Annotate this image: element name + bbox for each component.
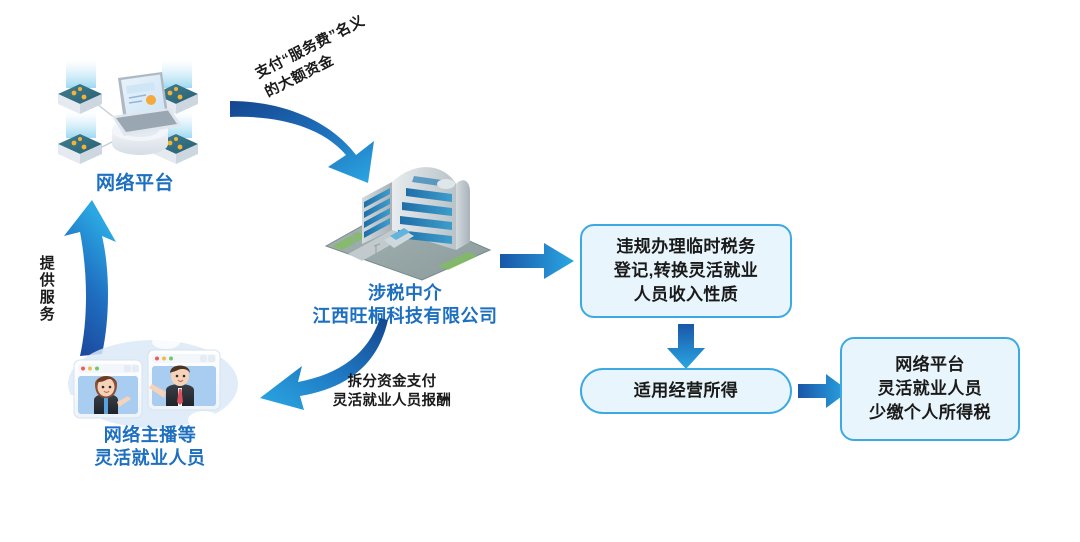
label-network-platform: 网络平台: [55, 172, 215, 196]
label-workers: 网络主播等 灵活就业人员: [55, 424, 245, 470]
tax-agency-illustration: [318, 158, 498, 283]
label-split-funds: 拆分资金支付 灵活就业人员报酬: [302, 373, 482, 411]
box-underpay-personal-income-tax[interactable]: 网络平台 灵活就业人员 少缴个人所得税: [840, 337, 1020, 441]
server-node-top-left: [58, 60, 102, 114]
box-illegal-temp-tax-registration[interactable]: 违规办理临时税务 登记,转换灵活就业 人员收入性质: [580, 224, 792, 318]
browser-window-right: [148, 350, 220, 410]
office-building-graphic: [318, 158, 498, 283]
arrow-down-graphic: [665, 324, 707, 370]
streamers-graphic: [48, 328, 248, 438]
label-pay-service-fee: 支付“服务费”名义 的大额资金: [252, 66, 262, 76]
browser-window-left: [74, 360, 142, 418]
arrow-box1-to-box2: [665, 324, 707, 370]
network-platform-illustration: [50, 52, 220, 172]
platform-graphic: [50, 52, 230, 177]
box-apply-business-income[interactable]: 适用经营所得: [580, 368, 792, 414]
diagram-canvas: 网络平台 支付“服务费”名义 的大额资金: [0, 0, 1080, 542]
label-provide-service: 提供服务: [38, 255, 54, 323]
arrow-right-graphic: [500, 243, 576, 279]
arrow-agency-to-box1: [500, 243, 576, 279]
server-node-bottom-left: [58, 112, 102, 164]
streamers-illustration: [48, 328, 248, 438]
